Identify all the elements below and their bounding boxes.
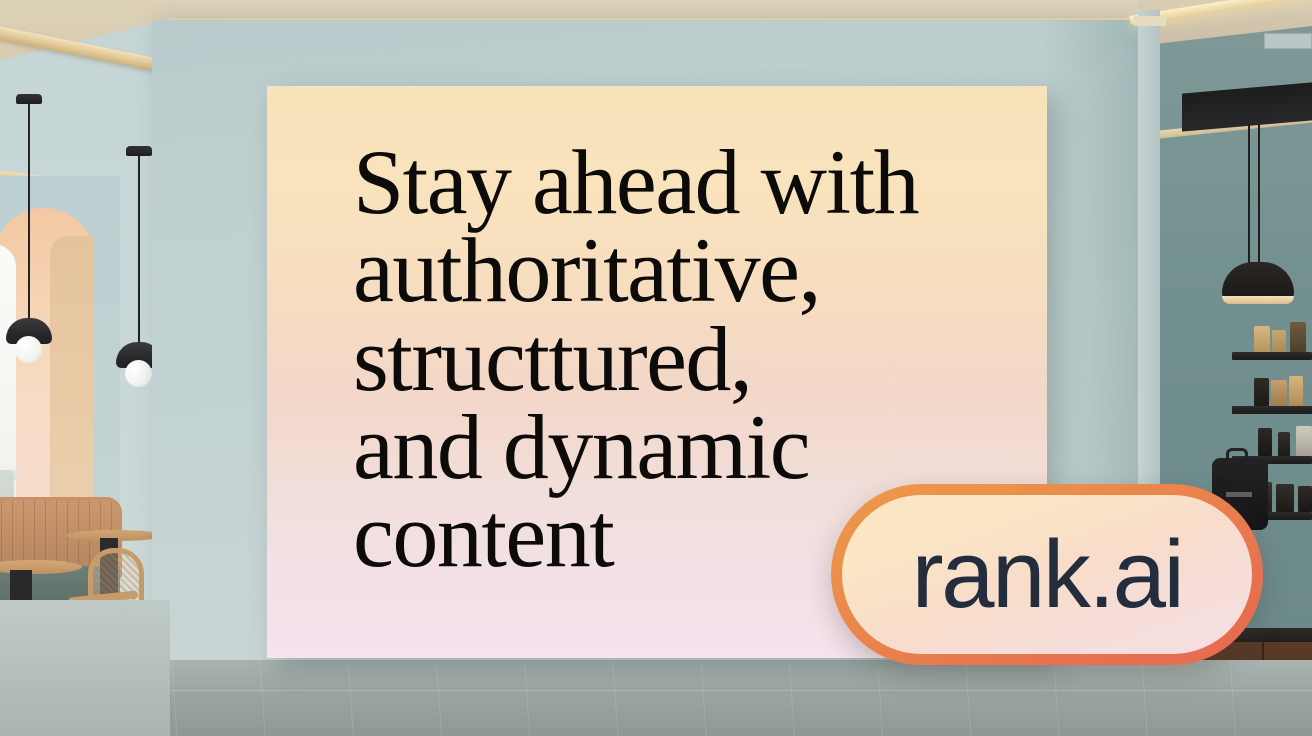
shelf-1-jar-c <box>1290 322 1306 352</box>
pendant-lamp-mid-globe <box>125 360 152 387</box>
shelf-1 <box>1232 352 1312 360</box>
shelf-4-canister-c <box>1298 486 1312 512</box>
rank-ai-logo-text: rank.ai <box>912 527 1183 623</box>
ceiling-vent-icon <box>1264 33 1312 49</box>
pendant-lamp-left-cord <box>28 104 30 322</box>
pendant-lamp-mid-mount <box>126 146 152 156</box>
shelf-3-item-c <box>1296 426 1312 456</box>
floor-grout-lines <box>0 660 1312 736</box>
rank-ai-badge-inner: rank.ai <box>842 495 1252 654</box>
shelf-2 <box>1232 406 1312 414</box>
scene-root: Stay ahead with authoritative, structtur… <box>0 0 1312 736</box>
left-floor <box>0 600 170 736</box>
pendant-lamp-right-glow <box>1222 296 1294 304</box>
shelf-1-jar-a <box>1254 326 1270 352</box>
pendant-lamp-right-cord-b <box>1258 124 1260 264</box>
shelf-2-jar-c <box>1289 376 1303 406</box>
rank-ai-badge[interactable]: rank.ai <box>831 484 1263 665</box>
pendant-lamp-mid-cord <box>138 156 140 346</box>
pendant-lamp-left-mount <box>16 94 42 104</box>
floor-tile-seam <box>0 690 1312 691</box>
pendant-lamp-left-globe <box>15 336 42 363</box>
shelf-2-jar-b <box>1271 380 1287 406</box>
pendant-lamp-right-cord-a <box>1248 124 1250 264</box>
shelf-4-canister-b <box>1276 484 1294 512</box>
shelf-3-item-b <box>1278 432 1290 456</box>
shelf-1-jar-b <box>1272 330 1286 352</box>
shelf-2-jar-a <box>1254 378 1269 406</box>
appliance-display <box>1226 492 1252 497</box>
wall-pillar-cap <box>1134 16 1166 26</box>
shelf-3-item-a <box>1258 428 1272 456</box>
